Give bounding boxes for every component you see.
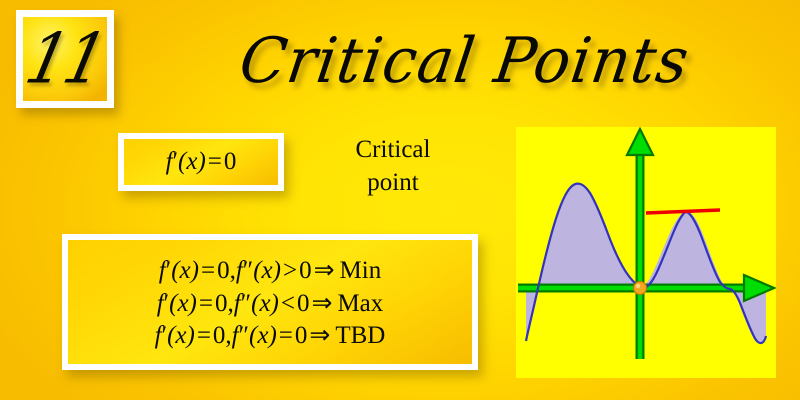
graph-panel [516,127,776,378]
origin-dot [634,282,647,295]
rule-prime-2: ″ [243,257,253,284]
rule-row: f′(x)=0,f″(x)<0⇒Max [157,288,384,321]
rule-value-1: 0 [215,290,228,317]
equation-value: 0 [224,148,237,175]
rule-relation: = [277,322,295,349]
rule-function-1: f [157,290,164,317]
rule-result: Min [337,257,382,284]
rule-function-2: f [234,290,241,317]
rule-result: TBD [332,322,385,349]
rule-equals-1: = [199,257,217,284]
rule-value-1: 0 [213,322,226,349]
rule-function-2: f [232,322,239,349]
rule-argument-1: (x) [171,257,199,284]
critical-point-label-line1: Critical [305,134,481,167]
rule-function-1: f [159,257,166,284]
critical-points-graph [516,127,776,378]
slide-number-text: 11 [20,24,111,93]
rule-implies-icon: ⇒ [307,322,332,349]
rule-argument-2: (x) [253,257,281,284]
rule-argument-2: (x) [249,322,277,349]
rule-function-1: f [155,322,162,349]
rules-panel: f′(x)=0,f″(x)>0⇒Min f′(x)=0,f″(x)<0⇒Max … [62,234,478,370]
critical-point-label-line2: point [305,167,481,200]
equation-argument: (x) [178,148,206,175]
rule-argument-1: (x) [167,322,195,349]
rule-row: f′(x)=0,f″(x)=0⇒TBD [155,320,386,353]
rule-argument-2: (x) [251,290,279,317]
rule-relation: < [279,290,297,317]
slide-canvas: 11 Critical Points f′(x)=0 Critical poin… [0,0,800,400]
slide-number-badge: 11 [16,10,114,108]
rule-implies-icon: ⇒ [312,257,337,284]
critical-equation-panel: f′(x)=0 [118,133,284,191]
equation-function: f [166,148,173,175]
rule-argument-1: (x) [169,290,197,317]
rule-value-1: 0 [217,257,230,284]
origin-dot-highlight [636,284,640,288]
rule-prime-2: ″ [239,322,249,349]
rule-equals-1: = [195,322,213,349]
curve-shaded-area-lobe2 [638,212,729,288]
rule-result: Max [334,290,383,317]
rule-value-2: 0 [295,322,308,349]
rule-relation: > [281,257,299,284]
critical-point-label: Critical point [305,134,481,199]
rule-implies-icon: ⇒ [309,290,334,317]
critical-equation-text: f′(x)=0 [166,148,237,176]
page-title: Critical Points [205,14,725,106]
rule-row: f′(x)=0,f″(x)>0⇒Min [159,255,381,288]
equation-equals: = [206,148,224,175]
y-axis [627,129,653,359]
rule-value-2: 0 [299,257,312,284]
page-title-text: Critical Points [237,29,694,92]
rule-equals-1: = [197,290,215,317]
rule-function-2: f [236,257,243,284]
rule-prime-2: ″ [241,290,251,317]
rule-value-2: 0 [297,290,310,317]
tangent-line-at-maximum [646,210,720,213]
